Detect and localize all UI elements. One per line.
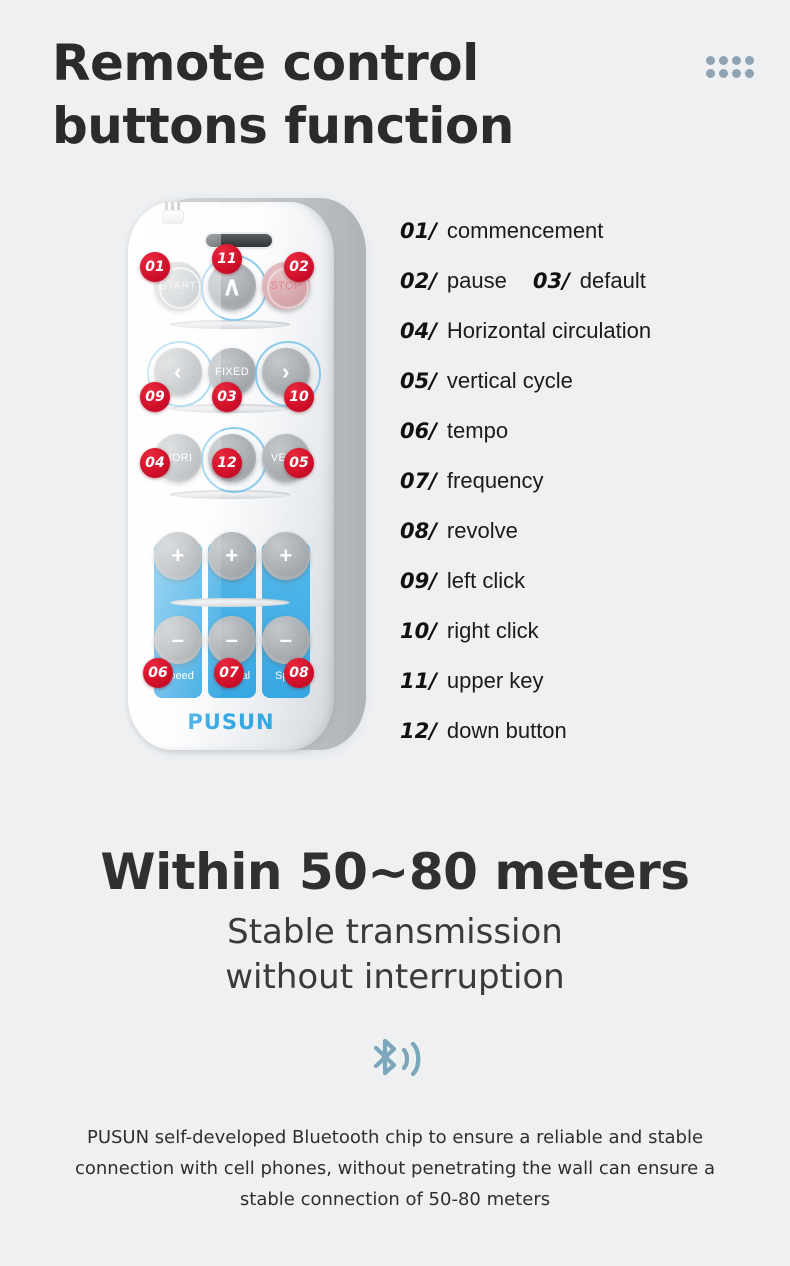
button-speed-plus[interactable]: + bbox=[154, 532, 202, 580]
range-section: Within 50~80 meters Stable transmission … bbox=[0, 842, 790, 1000]
list-item-number-secondary: 03/ bbox=[533, 269, 570, 293]
list-item-label: tempo bbox=[447, 418, 508, 444]
list-item-number: 07/ bbox=[400, 469, 437, 493]
grid-dot bbox=[745, 56, 754, 65]
callout-badge-09: 09 bbox=[140, 382, 170, 412]
list-item-number: 12/ bbox=[400, 719, 437, 743]
minus-icon: – bbox=[172, 629, 185, 651]
list-item-label: vertical cycle bbox=[447, 368, 573, 394]
brand-logo: PUSUN bbox=[128, 710, 334, 734]
callout-badge-05: 05 bbox=[284, 448, 314, 478]
remote-control-image: START ∧ STOP ‹ FIXED › HORI ∨ bbox=[108, 178, 378, 758]
list-item: 01/ commencement bbox=[400, 206, 770, 256]
dot-grid-icon bbox=[706, 56, 754, 78]
callout-badge-06: 06 bbox=[143, 658, 173, 688]
row-separator bbox=[170, 320, 290, 329]
function-list: 01/ commencement 02/ pause 03/ default 0… bbox=[400, 206, 770, 756]
list-item: 12/ down button bbox=[400, 706, 770, 756]
list-item: 07/ frequency bbox=[400, 456, 770, 506]
list-item-label: frequency bbox=[447, 468, 544, 494]
list-item-label: upper key bbox=[447, 668, 544, 694]
list-item-label: Horizontal circulation bbox=[447, 318, 651, 344]
grid-dot bbox=[732, 69, 741, 78]
list-item-label: left click bbox=[447, 568, 525, 594]
list-item-label: commencement bbox=[447, 218, 604, 244]
list-item: 11/ upper key bbox=[400, 656, 770, 706]
list-item-number: 11/ bbox=[400, 669, 437, 693]
plus-icon: + bbox=[171, 545, 184, 567]
list-item: 05/ vertical cycle bbox=[400, 356, 770, 406]
list-item-number: 10/ bbox=[400, 619, 437, 643]
bluetooth-glyph bbox=[362, 1034, 428, 1086]
callout-badge-08: 08 bbox=[284, 658, 314, 688]
range-subhead: Stable transmission without interruption bbox=[0, 910, 790, 1000]
callout-badge-10: 10 bbox=[284, 382, 314, 412]
page-title-line-2: buttons function bbox=[52, 97, 514, 155]
chevron-up-icon: ∧ bbox=[222, 273, 241, 299]
callout-badge-07: 07 bbox=[214, 658, 244, 688]
list-item-label: revolve bbox=[447, 518, 518, 544]
plus-icon: + bbox=[225, 545, 238, 567]
button-start-label: START bbox=[160, 280, 197, 292]
callout-badge-11: 11 bbox=[212, 244, 242, 274]
list-item-label-secondary: default bbox=[580, 268, 646, 294]
antenna-connector-icon bbox=[162, 202, 184, 226]
list-item-label: right click bbox=[447, 618, 539, 644]
callout-badge-12: 12 bbox=[212, 448, 242, 478]
list-item-number: 06/ bbox=[400, 419, 437, 443]
button-fixed-label: FIXED bbox=[215, 366, 249, 378]
range-subhead-line-2: without interruption bbox=[225, 957, 565, 997]
list-item: 04/ Horizontal circulation bbox=[400, 306, 770, 356]
footer-description: PUSUN self-developed Bluetooth chip to e… bbox=[55, 1122, 735, 1215]
list-item-label: pause bbox=[447, 268, 507, 294]
button-spin-minus[interactable]: – bbox=[262, 616, 310, 664]
plus-icon: + bbox=[279, 545, 292, 567]
button-spin-plus[interactable]: + bbox=[262, 532, 310, 580]
product-infographic-page: Remote control buttons function bbox=[0, 0, 790, 1266]
list-item-label: down button bbox=[447, 718, 567, 744]
range-headline: Within 50~80 meters bbox=[0, 842, 790, 902]
ir-emitter-slot bbox=[206, 234, 272, 247]
minus-icon: – bbox=[280, 629, 293, 651]
list-item-number: 09/ bbox=[400, 569, 437, 593]
button-speed-minus[interactable]: – bbox=[154, 616, 202, 664]
antenna-base bbox=[162, 210, 184, 224]
grid-dot bbox=[719, 69, 728, 78]
callout-badge-02: 02 bbox=[284, 252, 314, 282]
list-item-number: 04/ bbox=[400, 319, 437, 343]
callout-badge-01: 01 bbox=[140, 252, 170, 282]
list-item: 02/ pause 03/ default bbox=[400, 256, 770, 306]
chevron-right-icon: › bbox=[282, 361, 290, 383]
list-item: 08/ revolve bbox=[400, 506, 770, 556]
page-title: Remote control buttons function bbox=[52, 32, 692, 158]
range-subhead-line-1: Stable transmission bbox=[227, 912, 563, 952]
button-interval-minus[interactable]: – bbox=[208, 616, 256, 664]
grid-dot bbox=[706, 56, 715, 65]
row-separator bbox=[170, 598, 290, 607]
list-item: 06/ tempo bbox=[400, 406, 770, 456]
callout-badge-03: 03 bbox=[212, 382, 242, 412]
page-header: Remote control buttons function bbox=[52, 32, 692, 158]
callout-badge-04: 04 bbox=[140, 448, 170, 478]
list-item-number: 08/ bbox=[400, 519, 437, 543]
button-interval-plus[interactable]: + bbox=[208, 532, 256, 580]
grid-dot bbox=[732, 56, 741, 65]
list-item: 09/ left click bbox=[400, 556, 770, 606]
list-item-number: 02/ bbox=[400, 269, 437, 293]
list-item: 10/ right click bbox=[400, 606, 770, 656]
list-item-number: 01/ bbox=[400, 219, 437, 243]
bluetooth-signal-icon bbox=[0, 1034, 790, 1086]
grid-dot bbox=[706, 69, 715, 78]
chevron-left-icon: ‹ bbox=[174, 361, 182, 383]
page-title-line-1: Remote control bbox=[52, 34, 479, 92]
grid-dot bbox=[719, 56, 728, 65]
list-item-number: 05/ bbox=[400, 369, 437, 393]
grid-dot bbox=[745, 69, 754, 78]
minus-icon: – bbox=[226, 629, 239, 651]
